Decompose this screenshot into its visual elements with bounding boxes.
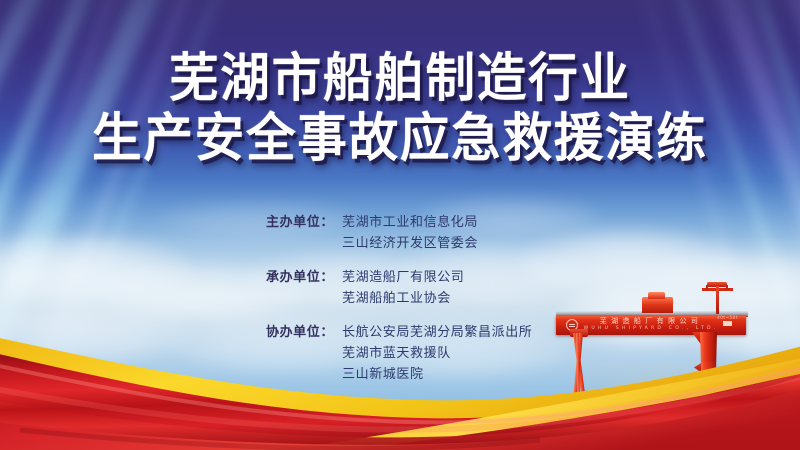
title-line-1: 芜湖市船舶制造行业	[20, 52, 780, 106]
credit-label: 主办单位：	[248, 212, 334, 233]
title-line-2: 生产安全事故应急救援演练	[20, 112, 780, 166]
credit-group: 承办单位：芜湖造船厂有限公司承办单位：芜湖船舶工业协会	[0, 267, 800, 309]
credit-label: 承办单位：	[248, 267, 334, 288]
credit-row: 承办单位：芜湖船舶工业协会	[0, 288, 800, 309]
credit-row: 主办单位：芜湖市工业和信息化局	[0, 212, 800, 233]
credit-value: 芜湖市工业和信息化局	[334, 212, 552, 233]
credit-row: 承办单位：芜湖造船厂有限公司	[0, 267, 800, 288]
credit-value: 芜湖造船厂有限公司	[334, 267, 552, 288]
credit-value: 三山经济开发区管委会	[334, 233, 552, 254]
credit-group: 主办单位：芜湖市工业和信息化局主办单位：三山经济开发区管委会	[0, 212, 800, 254]
poster-title: 芜湖市船舶制造行业 生产安全事故应急救援演练	[0, 52, 800, 166]
ribbon-decoration	[0, 330, 800, 450]
poster-banner: 芜湖造船厂有限公司 WUHU SHIPYARD CO., LTD. 40t~50…	[0, 0, 800, 450]
credit-value: 芜湖船舶工业协会	[334, 288, 552, 309]
credit-row: 主办单位：三山经济开发区管委会	[0, 233, 800, 254]
